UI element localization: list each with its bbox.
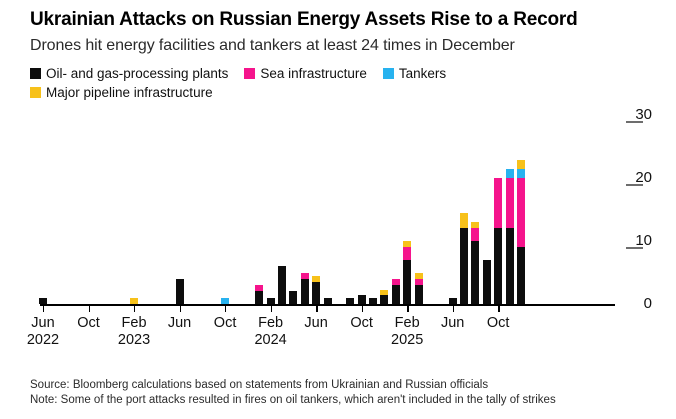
bar[interactable] [506, 169, 514, 304]
chart-legend: Oil- and gas-processing plants Sea infra… [30, 64, 660, 102]
bar[interactable] [415, 273, 423, 305]
legend-item-tankers[interactable]: Tankers [383, 67, 446, 80]
x-axis-tick-month: Oct [77, 315, 100, 331]
x-axis-tick-mark [225, 305, 226, 312]
x-axis-tick-month: Jun [304, 315, 327, 331]
legend-label-oil-gas: Oil- and gas-processing plants [46, 67, 228, 80]
bar-segment [517, 178, 525, 247]
bar-segment [289, 291, 297, 304]
legend-swatch-icon-oil-gas [30, 68, 41, 79]
bar-segment [517, 247, 525, 304]
bar[interactable] [392, 279, 400, 304]
bar-segment [494, 178, 502, 228]
bar[interactable] [278, 266, 286, 304]
x-axis-tick-mark [271, 305, 272, 312]
x-axis-tick-mark [453, 305, 454, 312]
x-axis-tick-mark [180, 305, 181, 312]
x-axis-tick-year: 2023 [104, 332, 164, 349]
bar-segment [460, 213, 468, 229]
footer-note: Note: Some of the port attacks resulted … [30, 393, 670, 408]
x-axis-tick-mark [498, 305, 499, 312]
bar-segment [471, 241, 479, 304]
x-axis-labels: Jun2022OctFeb2023JunOctFeb2024JunOctFeb2… [0, 315, 676, 361]
x-axis-tick-mark [89, 305, 90, 312]
bar[interactable] [517, 160, 525, 304]
bar[interactable] [301, 273, 309, 305]
x-axis-tick-year: 2025 [377, 332, 437, 349]
bar-segment [506, 169, 514, 178]
x-axis-tick-month: Feb [122, 315, 147, 331]
x-axis-tick-month: Feb [258, 315, 283, 331]
bar-segment [278, 266, 286, 304]
bar-segment [415, 285, 423, 304]
bar-segment [403, 247, 411, 260]
footer-source: Source: Bloomberg calculations based on … [30, 378, 670, 393]
legend-item-oil-gas[interactable]: Oil- and gas-processing plants [30, 67, 228, 80]
bar[interactable] [460, 213, 468, 304]
x-axis-tick-month: Jun [31, 315, 54, 331]
bar-segment [380, 295, 388, 304]
bar-segment [255, 291, 263, 304]
y-axis-labels: 0102030 [618, 104, 676, 314]
x-axis-tick-month: Oct [214, 315, 237, 331]
x-axis-tick-mark [407, 305, 408, 312]
x-axis-tick-year: 2022 [13, 332, 73, 349]
legend-label-sea: Sea infrastructure [260, 67, 367, 80]
x-axis-tick-mark [43, 305, 44, 312]
bar[interactable] [358, 295, 366, 304]
y-axis-tick-mark [626, 121, 643, 123]
x-axis-tick-year: 2024 [241, 332, 301, 349]
bar[interactable] [312, 276, 320, 304]
bar[interactable] [289, 291, 297, 304]
bar-segment [301, 279, 309, 304]
x-axis-tick-month: Jun [168, 315, 191, 331]
bar[interactable] [176, 279, 184, 304]
bar[interactable] [403, 241, 411, 304]
legend-swatch-icon-pipeline [30, 87, 41, 98]
x-axis-tick-mark [362, 305, 363, 312]
bar-segment [176, 279, 184, 304]
legend-row-2: Major pipeline infrastructure [30, 83, 660, 102]
x-axis-tick-month: Jun [441, 315, 464, 331]
bar[interactable] [483, 260, 491, 304]
x-axis-tick-mark [134, 305, 135, 312]
x-axis-tick-mark [316, 305, 317, 312]
x-axis-tick-label: Oct [468, 315, 528, 332]
y-axis-tick-mark [626, 247, 643, 249]
legend-label-pipeline: Major pipeline infrastructure [46, 86, 213, 99]
bar-segment [494, 228, 502, 304]
chart-footer: Source: Bloomberg calculations based on … [30, 378, 670, 408]
x-axis-tick-month: Feb [395, 315, 420, 331]
legend-item-pipeline[interactable]: Major pipeline infrastructure [30, 86, 213, 99]
bar-segment [506, 178, 514, 228]
bar[interactable] [380, 290, 388, 304]
bar-segment [403, 260, 411, 304]
bar-segment [517, 169, 525, 178]
page-title: Ukrainian Attacks on Russian Energy Asse… [30, 8, 650, 32]
page-subtitle: Drones hit energy facilities and tankers… [30, 36, 660, 56]
x-axis-tick-month: Oct [350, 315, 373, 331]
bar[interactable] [255, 285, 263, 304]
bar-segment [506, 228, 514, 304]
bar-segment [392, 285, 400, 304]
bars-layer [0, 104, 676, 309]
bar-segment [312, 282, 320, 304]
bar-segment [483, 260, 491, 304]
legend-label-tankers: Tankers [399, 67, 446, 80]
bar-segment [460, 228, 468, 304]
chart-page: Ukrainian Attacks on Russian Energy Asse… [0, 0, 676, 419]
y-axis-tick-mark [626, 184, 643, 186]
legend-row-1: Oil- and gas-processing plants Sea infra… [30, 64, 660, 83]
bar-segment [471, 228, 479, 241]
bar[interactable] [494, 178, 502, 304]
bar[interactable] [471, 222, 479, 304]
chart-plot-area [0, 104, 676, 309]
bar-segment [517, 160, 525, 168]
legend-swatch-icon-tankers [383, 68, 394, 79]
legend-item-sea[interactable]: Sea infrastructure [244, 67, 367, 80]
x-axis-tick-month: Oct [487, 315, 510, 331]
legend-swatch-icon-sea [244, 68, 255, 79]
bar-segment [358, 295, 366, 304]
